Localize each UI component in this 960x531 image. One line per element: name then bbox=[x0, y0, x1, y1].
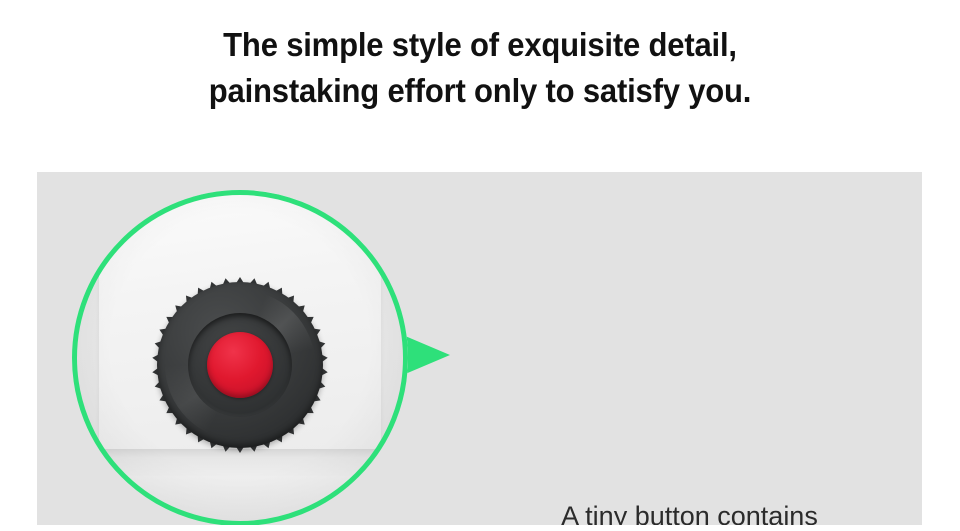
photo-vignette bbox=[72, 190, 408, 525]
product-photo bbox=[72, 190, 408, 525]
caption-line-1: A tiny button contains bbox=[467, 497, 912, 525]
magnified-detail-circle bbox=[72, 190, 408, 525]
magnifier-photo-clip bbox=[72, 190, 408, 525]
headline-line-2: painstaking effort only to satisfy you. bbox=[29, 68, 931, 114]
headline-line-1: The simple style of exquisite detail, bbox=[29, 22, 931, 68]
page-title: The simple style of exquisite detail, pa… bbox=[29, 22, 931, 114]
feature-image-panel: A tiny button contains complex design. bbox=[37, 172, 922, 525]
feature-caption: A tiny button contains complex design. bbox=[467, 497, 912, 525]
product-detail-banner: The simple style of exquisite detail, pa… bbox=[0, 0, 960, 531]
